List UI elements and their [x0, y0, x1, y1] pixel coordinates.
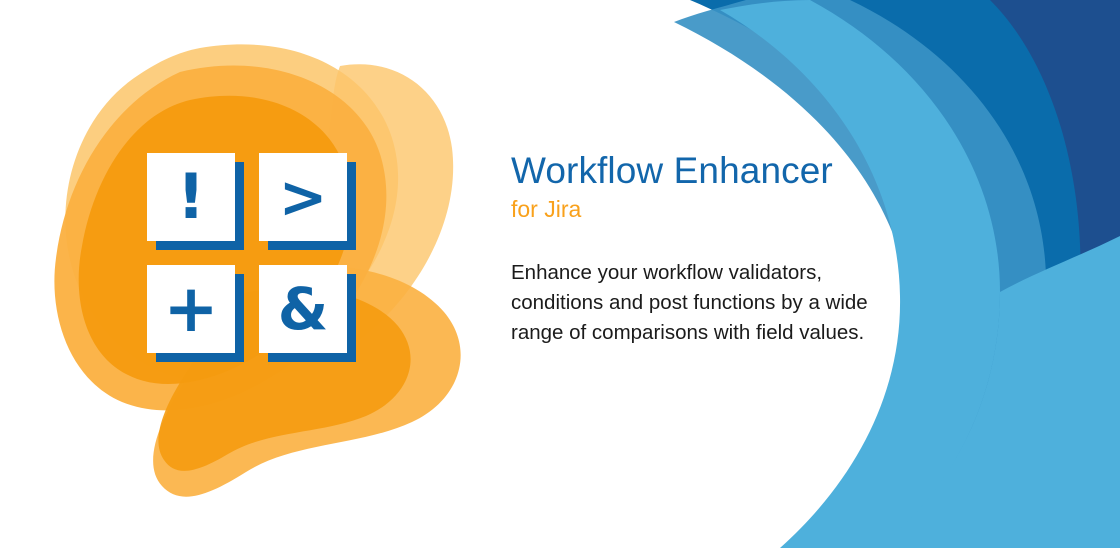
product-title: Workflow Enhancer [511, 152, 951, 191]
banner-text-block: Workflow Enhancer for Jira Enhance your … [511, 152, 951, 348]
tile-face: ! [147, 153, 235, 241]
logo-tile-exclamation: ! [147, 153, 235, 247]
tile-face: > [259, 153, 347, 241]
exclamation-icon: ! [177, 166, 205, 228]
ampersand-icon: & [278, 280, 329, 338]
product-banner: ! > + & Workflow Enhancer for Jira Enhan… [0, 0, 1120, 548]
logo-tile-ampersand: & [259, 265, 347, 359]
product-logo: ! > + & [147, 153, 359, 365]
product-subtitle: for Jira [511, 197, 951, 222]
description-line: conditions and post functions by a wide [511, 288, 951, 318]
product-description: Enhance your workflow validators, condit… [511, 258, 951, 348]
description-line: range of comparisons with field values. [511, 318, 951, 348]
logo-tile-greater-than: > [259, 153, 347, 247]
description-line: Enhance your workflow validators, [511, 258, 951, 288]
tile-face: & [259, 265, 347, 353]
greater-than-icon: > [279, 168, 328, 226]
logo-tile-plus: + [147, 265, 235, 359]
plus-icon: + [163, 276, 218, 342]
tile-face: + [147, 265, 235, 353]
